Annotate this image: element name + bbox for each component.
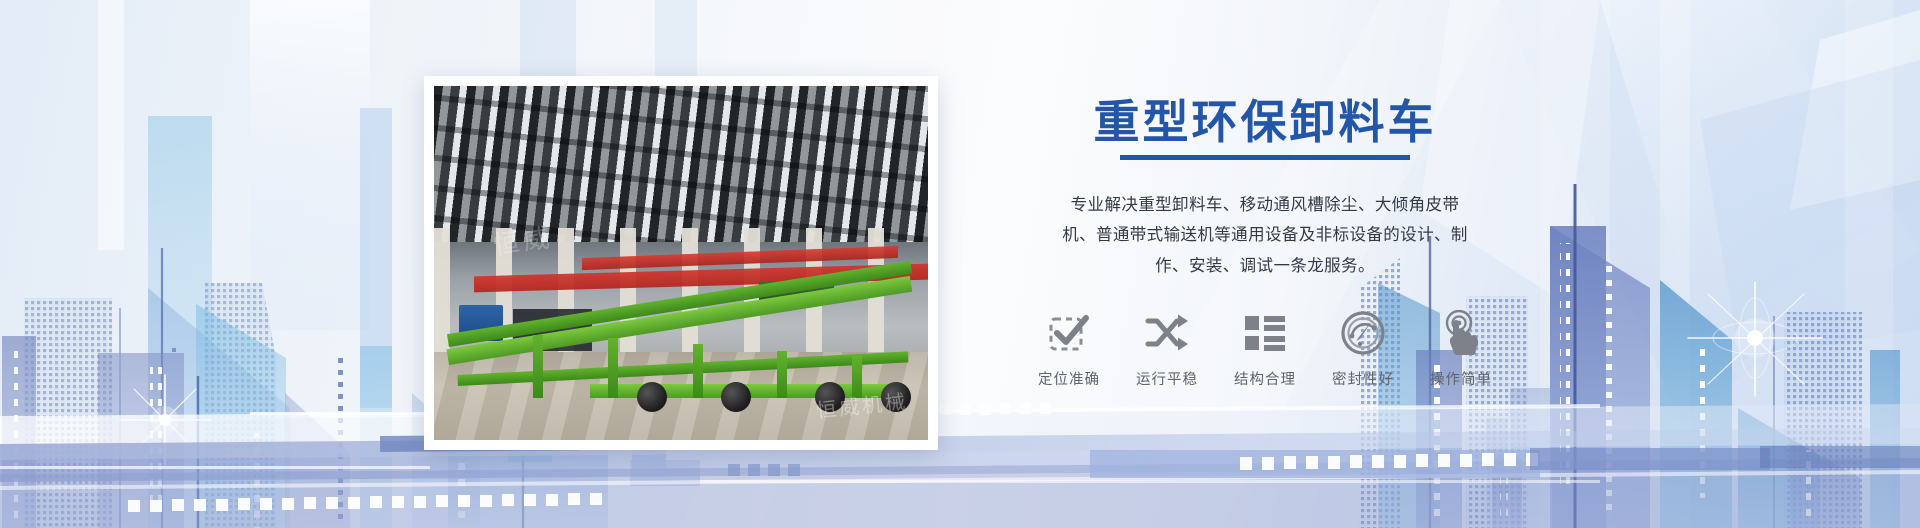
touch-hand-icon xyxy=(1423,307,1499,359)
feature-label: 密封性好 xyxy=(1325,368,1401,389)
feature-item-positioning[interactable]: 定位准确 xyxy=(1031,307,1107,389)
hero-banner: 恒威机械 恒威 重型环保卸料车 专业解决重型卸料车、移动通风槽除尘、大倾角皮带机… xyxy=(0,0,1920,528)
feature-item-sealing[interactable]: 密封性好 xyxy=(1325,307,1401,389)
photo-watermark-secondary: 恒威 xyxy=(491,217,556,262)
banner-content: 重型环保卸料车 专业解决重型卸料车、移动通风槽除尘、大倾角皮带机、普通带式输送机… xyxy=(985,96,1545,389)
product-photo-card[interactable]: 恒威机械 恒威 xyxy=(424,76,938,450)
starburst-right xyxy=(1680,268,1830,413)
starburst-left xyxy=(110,365,220,480)
banner-description: 专业解决重型卸料车、移动通风槽除尘、大倾角皮带机、普通带式输送机等通用设备及非标… xyxy=(1055,190,1475,282)
feature-item-smooth-running[interactable]: 运行平稳 xyxy=(1129,307,1205,389)
title-underline xyxy=(1120,155,1410,160)
feature-label: 定位准确 xyxy=(1031,368,1107,389)
check-in-dashed-box-icon xyxy=(1031,307,1107,359)
feature-item-structure[interactable]: 结构合理 xyxy=(1227,307,1303,389)
feature-label: 结构合理 xyxy=(1227,368,1303,389)
feature-label: 操作简单 xyxy=(1423,368,1499,389)
background-polygons xyxy=(0,0,1920,528)
page-title: 重型环保卸料车 xyxy=(985,96,1545,149)
feature-label: 运行平稳 xyxy=(1129,368,1205,389)
feature-list: 定位准确 运行平稳 xyxy=(985,307,1545,389)
list-blocks-icon xyxy=(1227,307,1303,359)
seal-gauge-icon xyxy=(1325,307,1401,359)
shuffle-arrows-icon xyxy=(1129,307,1205,359)
product-photo: 恒威机械 恒威 xyxy=(434,86,928,440)
feature-item-easy-operation[interactable]: 操作简单 xyxy=(1423,307,1499,389)
bottom-bands xyxy=(0,348,1920,528)
